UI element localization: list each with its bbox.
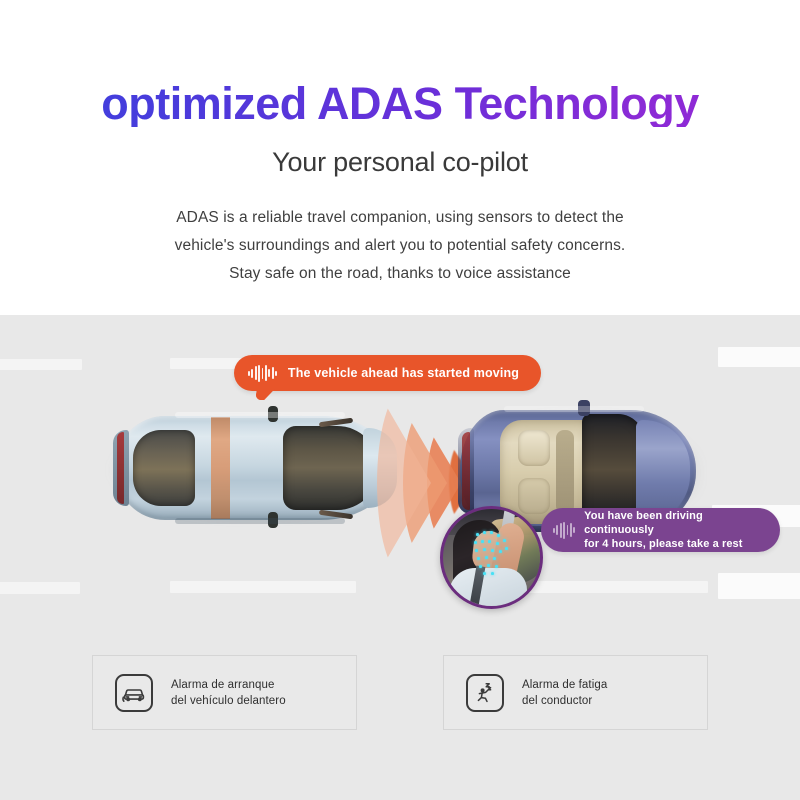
car-center-console [556,430,574,514]
page-title: optimized ADAS Technology [0,80,800,127]
lane-marking [718,573,800,599]
bubble-tail [255,389,275,400]
fatigue-alert-line-1: You have been driving continuously [584,509,766,537]
audio-waveform-icon [248,365,277,382]
car-sill-top [504,406,644,412]
driver-fatigue-alert-text: You have been driving continuously for 4… [584,509,766,551]
car-seat-left [518,430,550,466]
lane-marking [524,581,708,593]
card-2-line-1: Alarma de fatiga [522,677,607,693]
car-rear-window [133,430,195,506]
fatigued-driver-photo [440,506,543,609]
lane-marking [170,581,356,593]
car-taillight [117,432,124,504]
description-line-1: ADAS is a reliable travel companion, usi… [0,204,800,232]
forward-collision-alert-text: The vehicle ahead has started moving [288,366,519,380]
car-sill-bottom [175,518,345,524]
feature-card-forward-vehicle-start-alarm[interactable]: Alarma de arranque del vehículo delanter… [92,655,357,730]
forward-collision-alert-bubble[interactable]: The vehicle ahead has started moving [234,355,541,391]
page-subtitle: Your personal co-pilot [0,147,800,178]
face-detection-dots [443,509,540,606]
lane-marking [718,347,800,367]
lane-marking [0,582,80,594]
car-copper-stripe [211,417,230,519]
drowsy-driver-icon [466,674,504,712]
fatigue-alert-line-2: for 4 hours, please take a rest [584,537,766,551]
feature-card-label: Alarma de fatiga del conductor [522,677,607,709]
feature-card-label: Alarma de arranque del vehículo delanter… [171,677,286,709]
lead-vehicle-silver-car [105,408,400,528]
lane-marking [0,359,82,370]
card-1-line-1: Alarma de arranque [171,677,286,693]
page-description: ADAS is a reliable travel companion, usi… [0,204,800,288]
driver-fatigue-alert-bubble[interactable]: You have been driving continuously for 4… [541,508,780,552]
car-front-alert-icon [115,674,153,712]
description-line-3: Stay safe on the road, thanks to voice a… [0,260,800,288]
feature-cards: Alarma de arranque del vehículo delanter… [0,655,800,730]
feature-card-driver-fatigue-alarm[interactable]: Alarma de fatiga del conductor [443,655,708,730]
audio-waveform-icon [553,522,575,539]
card-2-line-2: del conductor [522,693,607,709]
car-sill-top [175,412,345,418]
car-taillight [462,432,470,510]
radar-arc-4 [377,390,431,576]
description-line-2: vehicle's surroundings and alert you to … [0,232,800,260]
hero-header: optimized ADAS Technology Your personal … [0,0,800,315]
card-1-line-2: del vehículo delantero [171,693,286,709]
